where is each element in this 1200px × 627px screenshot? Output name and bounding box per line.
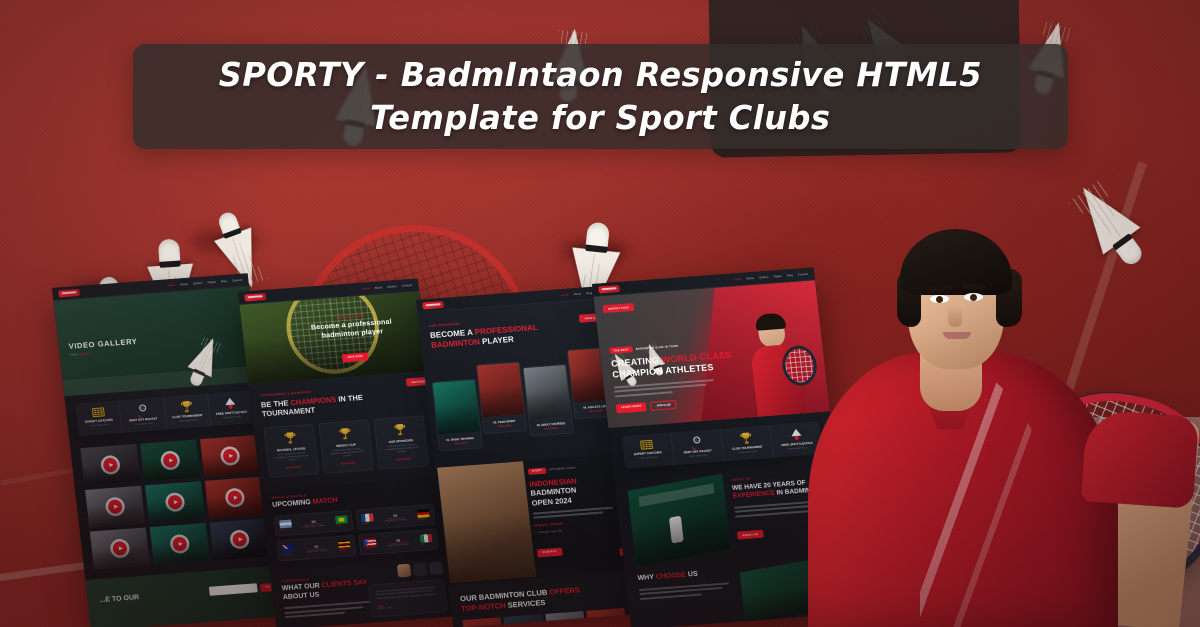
title-line-2: Template for Sport Clubs xyxy=(370,97,830,139)
title-line-1: SPORTY - BadmIntaon Responsive HTML5 xyxy=(219,54,982,96)
title-banner: SPORTY - BadmIntaon Responsive HTML5 Tem… xyxy=(133,44,1068,149)
poster-stage: Home About Gallery Pages Blog Contact VI… xyxy=(0,0,1200,627)
